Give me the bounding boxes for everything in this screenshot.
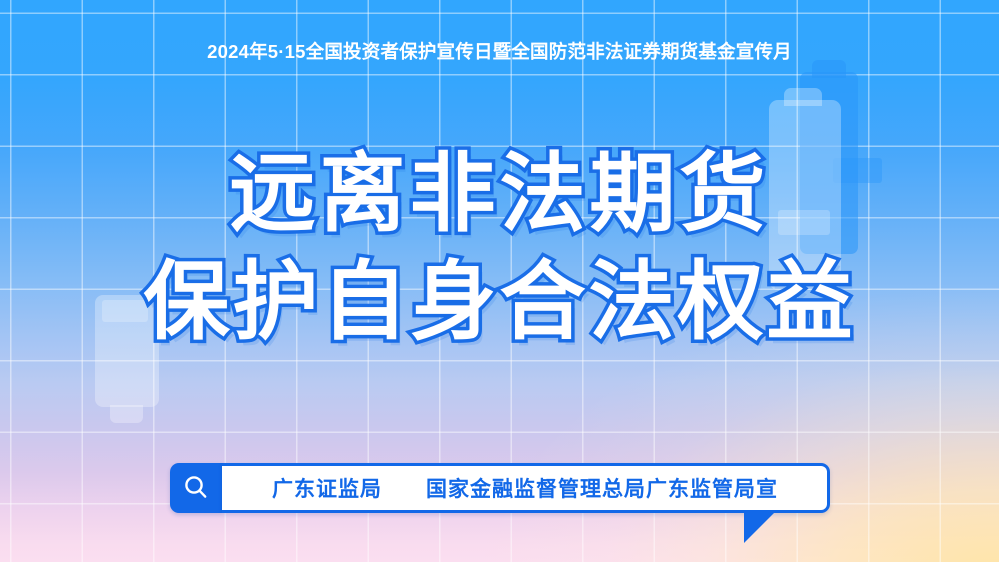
poster-canvas: 2024年5·15全国投资者保护宣传日暨全国防范非法证券期货基金宣传月 远离非法… [0,0,999,562]
tower-left-foot [110,405,143,423]
banner-tail-triangle [744,512,775,543]
footer-credit-box: 广东证监局 国家金融监督管理总局广东监管局宣 [222,463,830,513]
tower-right-front-body [769,100,841,290]
footer-organizations-text: 广东证监局 国家金融监督管理总局广东监管局宣 [222,473,778,503]
tower-left-slot [102,300,148,322]
footer-credit-banner: 广东证监局 国家金融监督管理总局广东监管局宣 [170,463,830,513]
tower-right-front-slot [778,210,830,235]
campaign-header-line: 2024年5·15全国投资者保护宣传日暨全国防范非法证券期货基金宣传月 [0,38,999,64]
tower-right-front-cap [784,88,822,106]
search-icon [170,463,222,513]
